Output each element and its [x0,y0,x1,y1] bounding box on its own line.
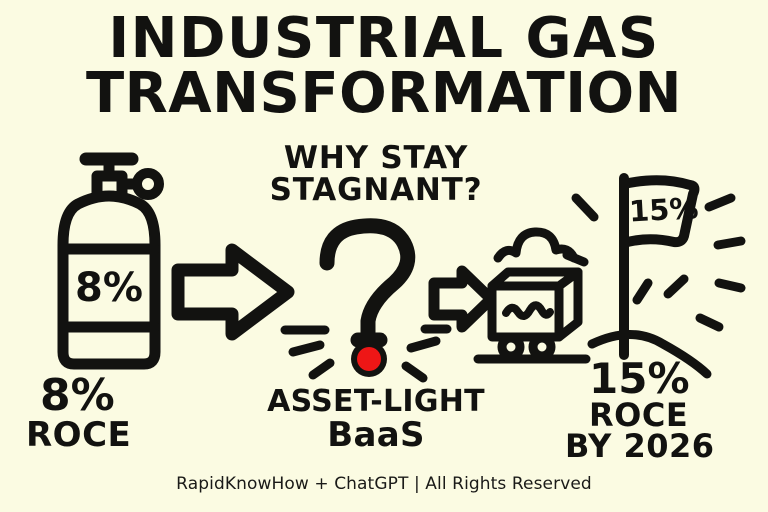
question-mark-icon [327,226,408,340]
flag-percent-value: 15% [628,191,690,228]
gas-cylinder-icon [63,159,159,364]
middle-headline: WHY STAY STAGNANT? [248,143,504,207]
stage-left-value: 8% [22,374,212,418]
arrow-right-large [178,250,288,334]
stage-right-label: 15% ROCE BY 2026 [565,358,765,463]
headline-line-1: WHY STAY [248,143,504,175]
title-line-1: INDUSTRIAL GAS [0,12,768,67]
mine-cart-icon [478,232,586,359]
stage-middle-line-1: ASSET-LIGHT [248,387,504,418]
title-line-2: TRANSFORMATION [0,67,768,122]
stage-middle-label: ASSET-LIGHT BaaS [248,387,504,452]
headline-line-2: STAGNANT? [248,175,504,207]
page-title: INDUSTRIAL GAS TRANSFORMATION [0,12,768,122]
stage-left-metric: ROCE [22,418,212,452]
stage-right-value: 15% [565,358,765,400]
footer-credit: RapidKnowHow + ChatGPT | All Rights Rese… [0,474,768,494]
stage-right-deadline: BY 2026 [565,431,765,463]
arrow-right-small [434,271,491,327]
red-dot [351,341,387,377]
stage-left-label: 8% ROCE [22,374,212,452]
stage-middle-line-2: BaaS [248,418,504,453]
cylinder-percent-value: 8% [66,265,152,311]
